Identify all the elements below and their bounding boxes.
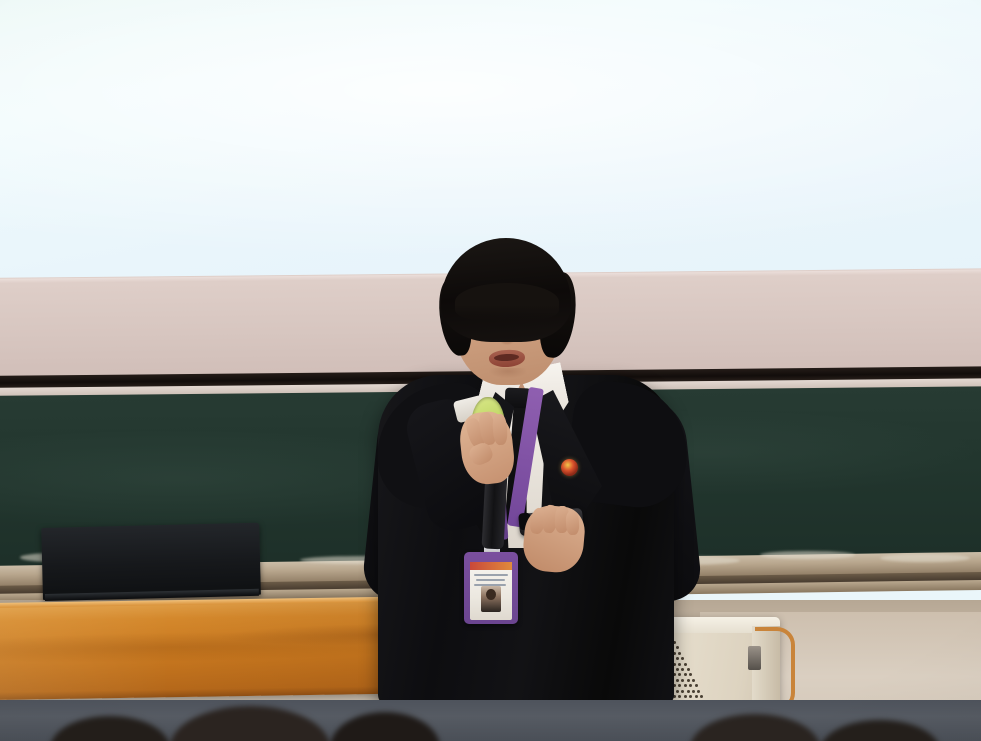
lecture-hall-photo: Student presenting with microphone in a …	[0, 0, 981, 741]
chin-shadow	[482, 368, 534, 384]
right-finger-4	[565, 511, 579, 536]
badge-portrait-head	[486, 589, 496, 600]
badge-banner	[470, 562, 512, 570]
student-presenter	[0, 0, 981, 741]
hair-fringe	[455, 283, 559, 321]
badge-text-line-2	[476, 579, 505, 581]
badge-text-line-1	[474, 574, 508, 576]
lapel-pin-icon	[561, 459, 578, 476]
